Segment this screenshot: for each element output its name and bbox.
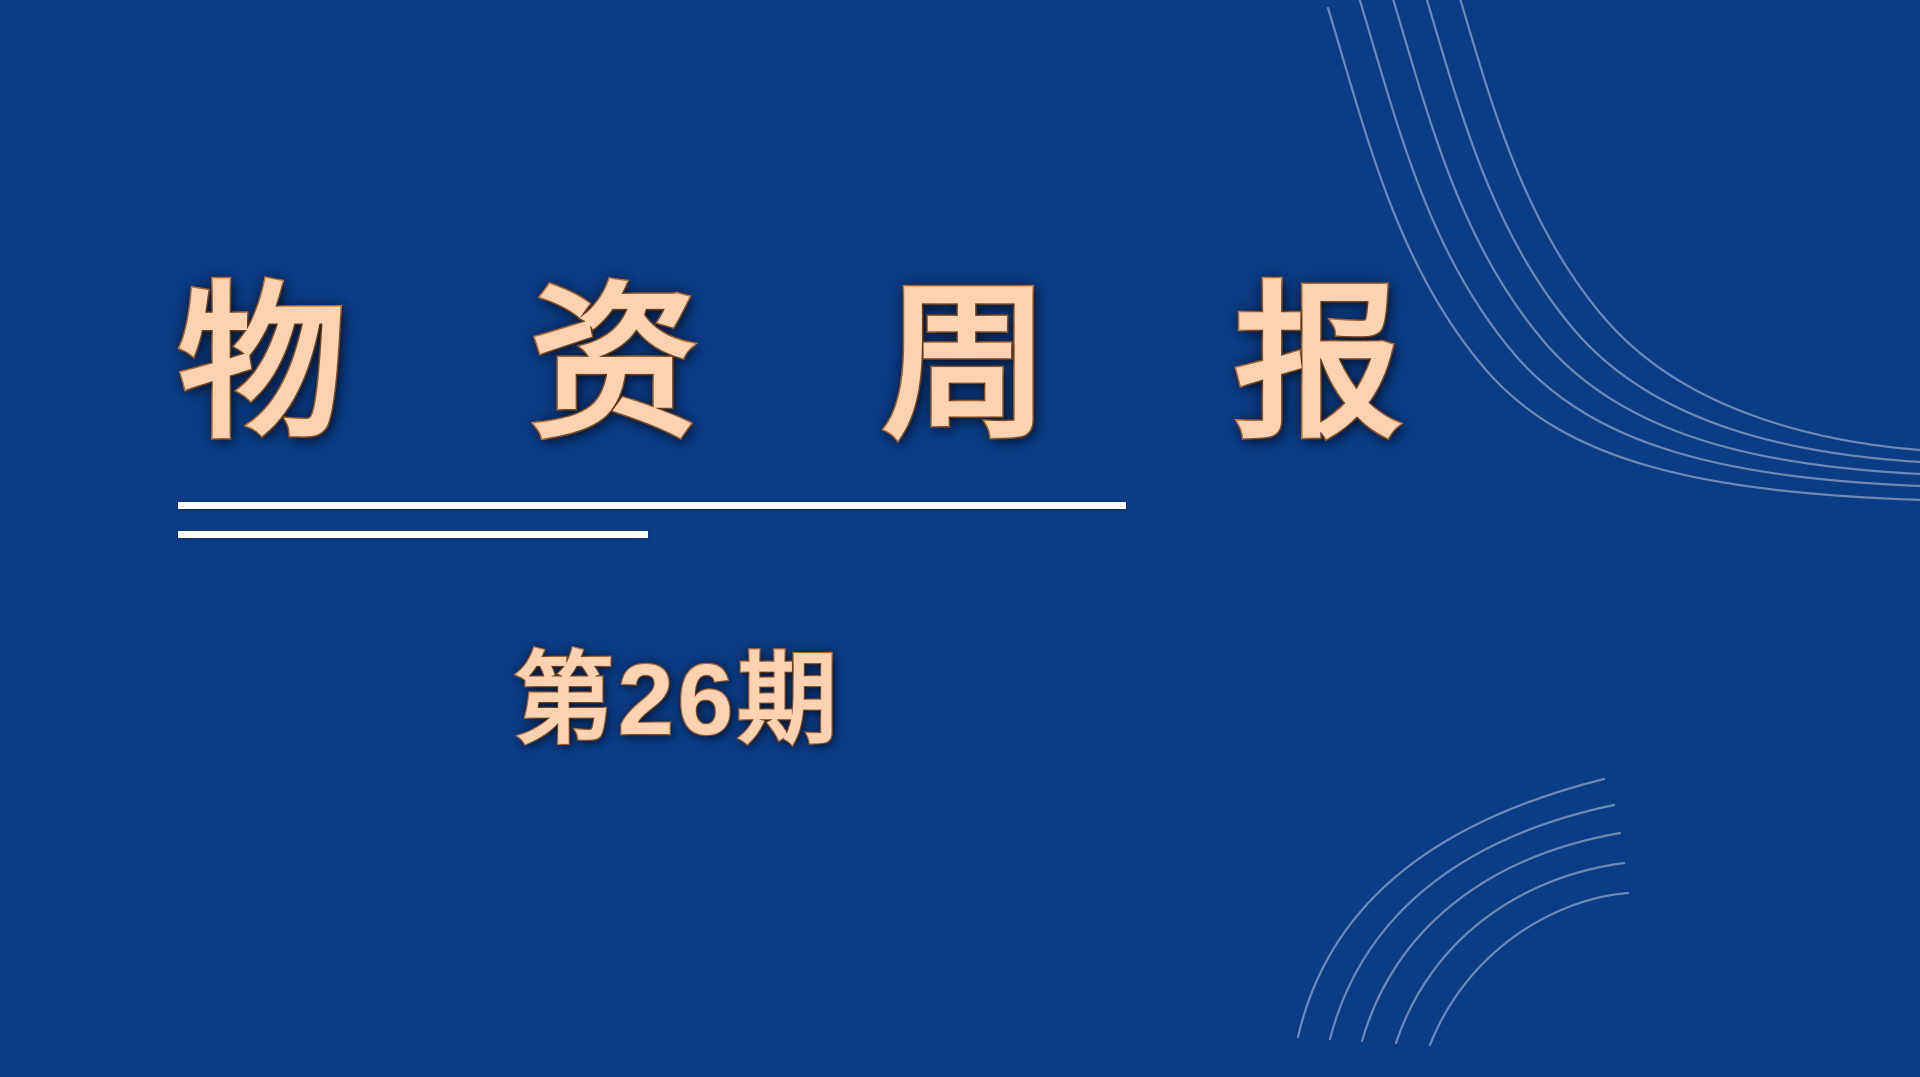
page-title: 物 资 周 报 — [178, 270, 1178, 458]
title-slide: 物 资 周 报 第26期 — [0, 0, 1920, 1077]
wave-line-3 — [1388, 0, 1920, 474]
arc-lines-bottom-right-icon — [1280, 717, 1920, 1077]
arc-line-5 — [1430, 893, 1628, 1045]
title-underline-short — [178, 531, 648, 538]
arc-line-2 — [1330, 805, 1614, 1039]
title-underline-long — [178, 502, 1126, 509]
arc-line-1 — [1298, 779, 1604, 1037]
wave-line-5 — [1448, 0, 1920, 450]
wave-line-4 — [1418, 0, 1920, 462]
arc-line-3 — [1362, 833, 1620, 1041]
page-subtitle: 第26期 — [514, 640, 841, 760]
title-block: 物 资 周 报 — [178, 270, 1178, 458]
arc-line-4 — [1396, 863, 1624, 1043]
